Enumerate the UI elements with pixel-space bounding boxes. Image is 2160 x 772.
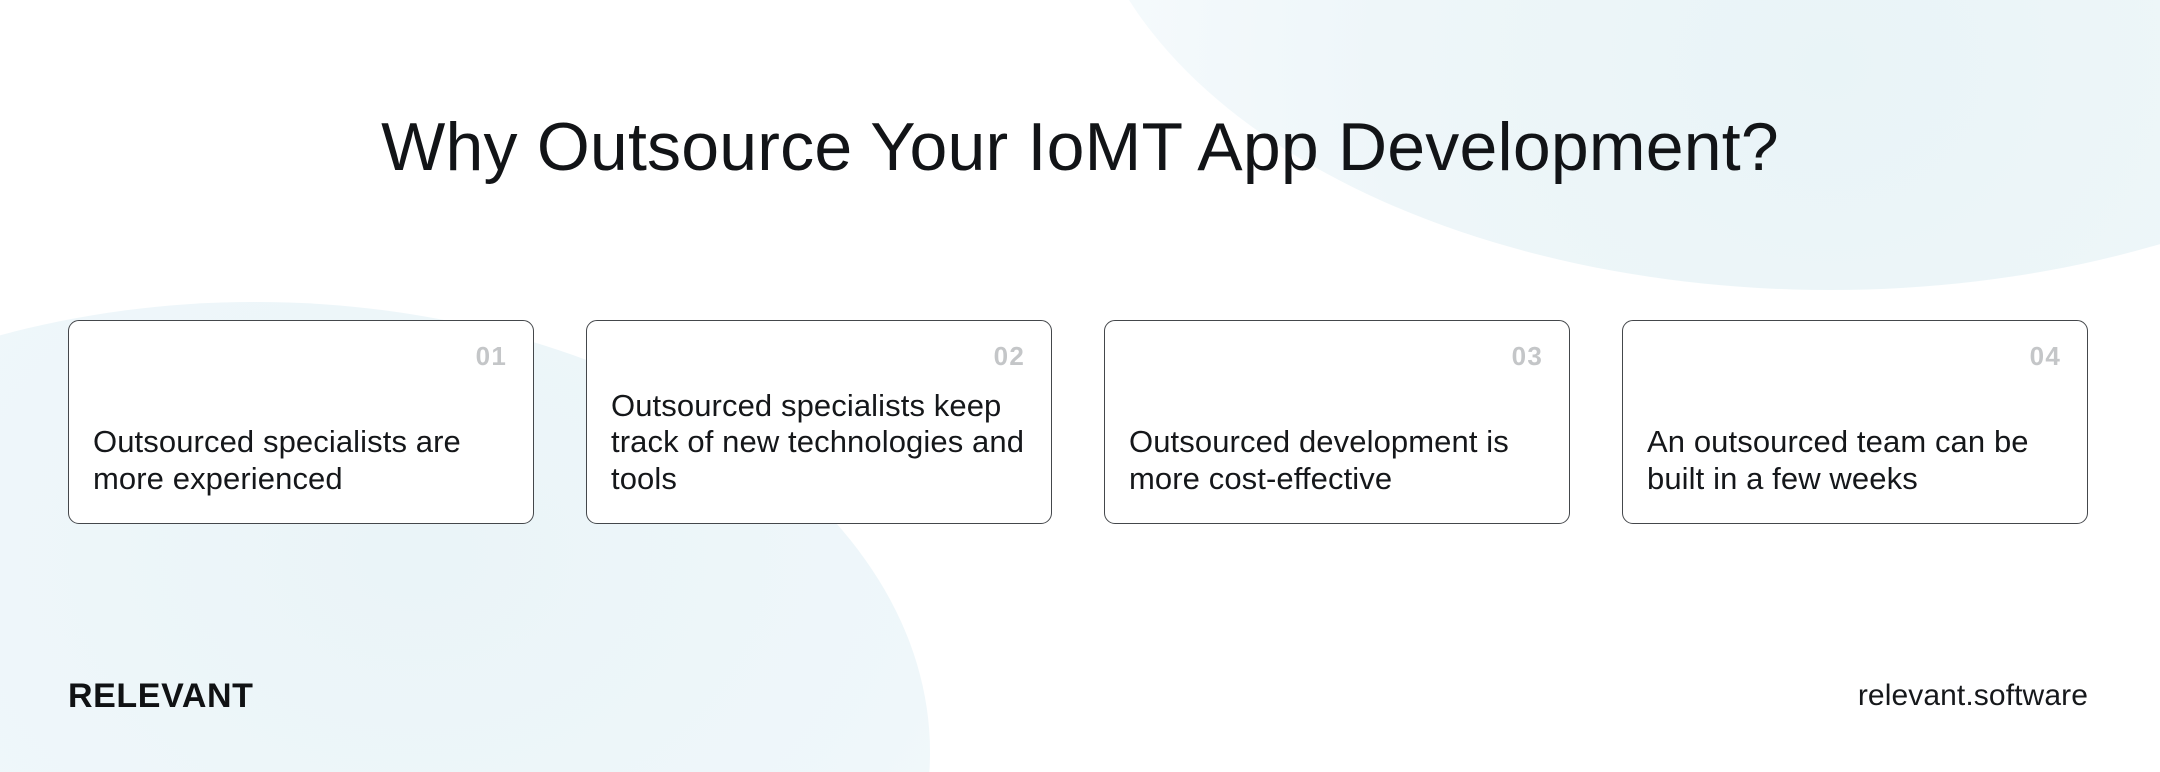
benefit-card: 02 Outsourced specialists keep track of … (586, 320, 1052, 524)
card-number-badge: 04 (2030, 343, 2061, 369)
site-url: relevant.software (1858, 681, 2088, 711)
benefit-card-list: 01 Outsourced specialists are more exper… (68, 320, 2088, 524)
slide-footer: RELEVANT relevant.software (68, 674, 2088, 718)
page-title: Why Outsource Your IoMT App Development? (0, 108, 2160, 186)
benefit-card: 03 Outsourced development is more cost-e… (1104, 320, 1570, 524)
slide-root: Why Outsource Your IoMT App Development?… (0, 0, 2160, 772)
card-number-badge: 01 (476, 343, 507, 369)
slide-content: Why Outsource Your IoMT App Development?… (0, 0, 2160, 772)
card-text: Outsourced specialists are more experien… (93, 424, 507, 501)
card-text: Outsourced specialists keep track of new… (611, 388, 1025, 501)
benefit-card: 01 Outsourced specialists are more exper… (68, 320, 534, 524)
card-text: Outsourced development is more cost-effe… (1129, 424, 1543, 501)
card-text: An outsourced team can be built in a few… (1647, 424, 2061, 501)
card-number-badge: 02 (994, 343, 1025, 369)
brand-logo: RELEVANT (68, 679, 254, 713)
benefit-card: 04 An outsourced team can be built in a … (1622, 320, 2088, 524)
card-number-badge: 03 (1512, 343, 1543, 369)
